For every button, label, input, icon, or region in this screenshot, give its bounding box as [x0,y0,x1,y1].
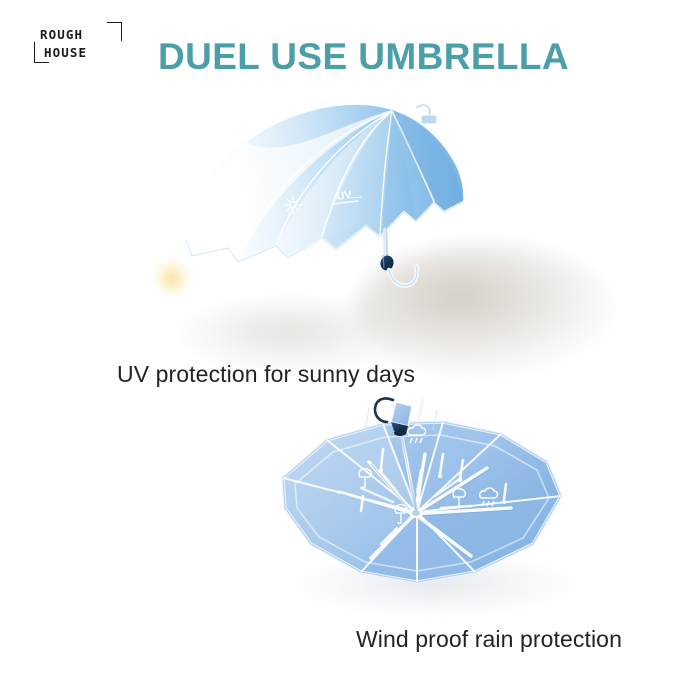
caption-uv-protection: UV protection for sunny days [117,361,415,388]
product-photo-umbrella-inverted [265,392,575,597]
caption-rain-protection: Wind proof rain protection [356,626,622,653]
product-marketing-image: ROUGH HOUSE DUEL USE UMBRELLA [0,0,679,679]
umbrella-top-strap-icon [416,105,437,124]
product-photo-umbrella-open: UV [180,90,470,340]
umbrella-handle-assembly [379,230,417,286]
svg-text:UV: UV [336,189,353,203]
page-title: DUEL USE UMBRELLA [0,36,679,78]
